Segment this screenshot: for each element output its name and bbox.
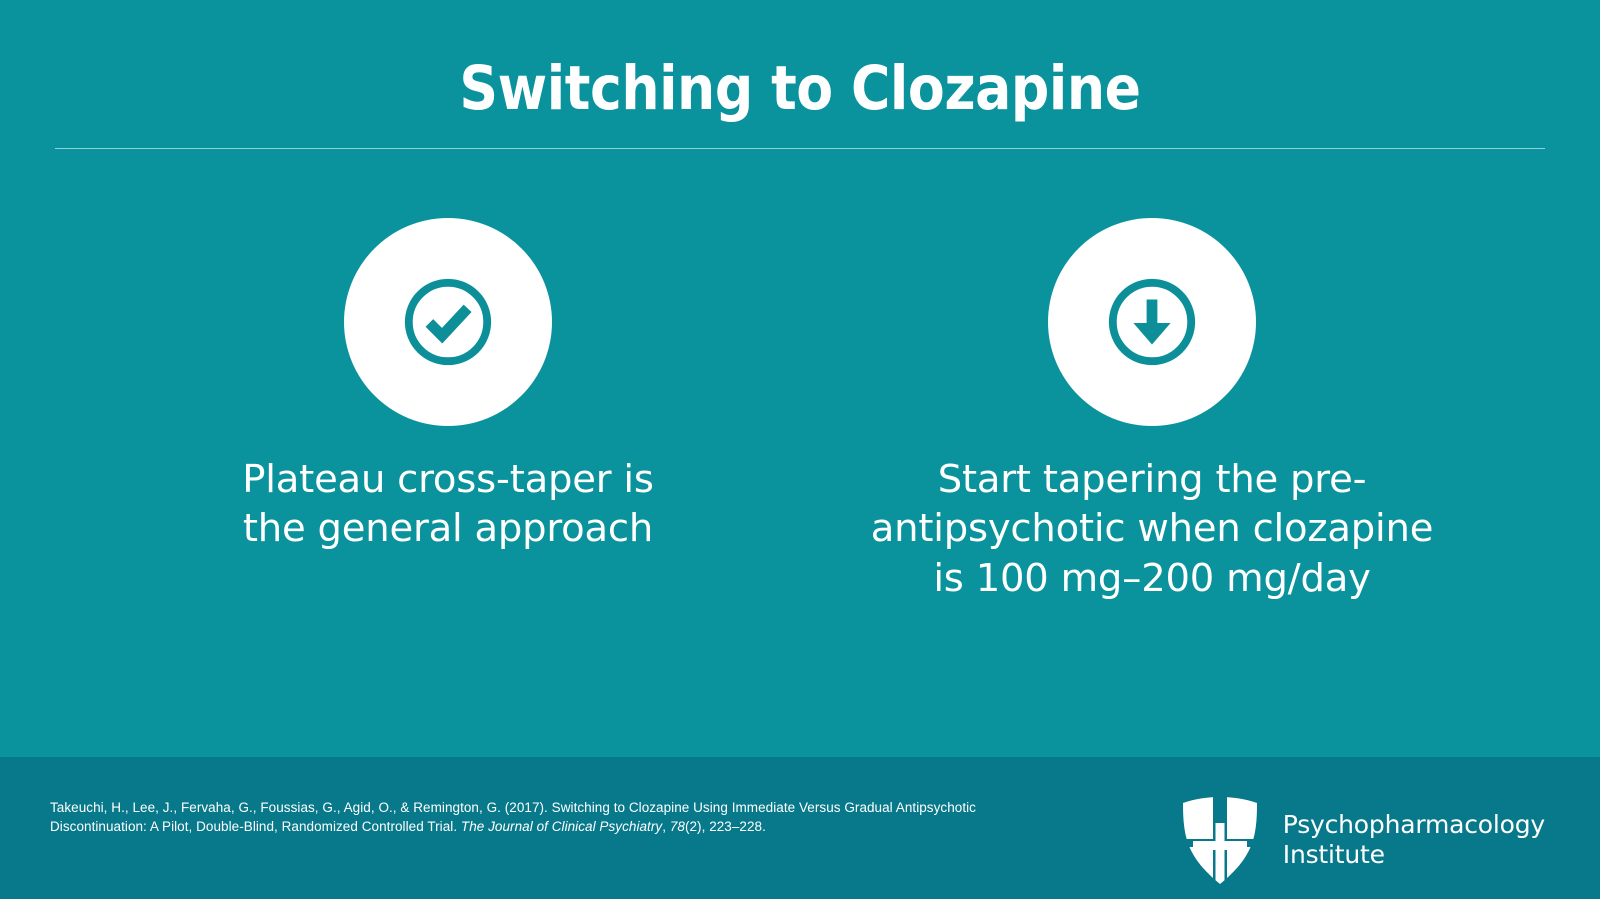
citation-reference: Takeuchi, H., Lee, J., Fervaha, G., Fous…	[50, 799, 1010, 836]
arrow-down-circle-icon-badge	[1048, 218, 1256, 426]
title-divider	[55, 148, 1545, 149]
footer-bar: Takeuchi, H., Lee, J., Fervaha, G., Fous…	[0, 757, 1600, 899]
column-plateau-cross-taper: Plateau cross-taper is the general appro…	[118, 218, 778, 554]
content-columns: Plateau cross-taper is the general appro…	[0, 218, 1600, 603]
arrow-down-circle-icon	[1103, 273, 1201, 371]
brand-name: Psychopharmacology Institute	[1283, 810, 1545, 871]
citation-journal: The Journal of Clinical Psychiatry	[461, 819, 662, 834]
brand-lockup: Psychopharmacology Institute	[1179, 795, 1545, 885]
title-block: Switching to Clozapine	[0, 58, 1600, 119]
citation-part-3: (2), 223–228.	[685, 819, 766, 834]
check-circle-icon-badge	[344, 218, 552, 426]
shield-cross-logo-icon	[1179, 795, 1261, 885]
column-caption: Plateau cross-taper is the general appro…	[233, 455, 663, 554]
citation-part-2: ,	[662, 819, 670, 834]
column-start-tapering: Start tapering the pre-antipsychotic whe…	[822, 218, 1482, 603]
page-title: Switching to Clozapine	[96, 58, 1504, 119]
column-caption: Start tapering the pre-antipsychotic whe…	[862, 455, 1442, 603]
citation-volume: 78	[670, 819, 685, 834]
slide: Switching to Clozapine Plateau cross-tap…	[0, 0, 1600, 899]
check-circle-icon	[399, 273, 497, 371]
